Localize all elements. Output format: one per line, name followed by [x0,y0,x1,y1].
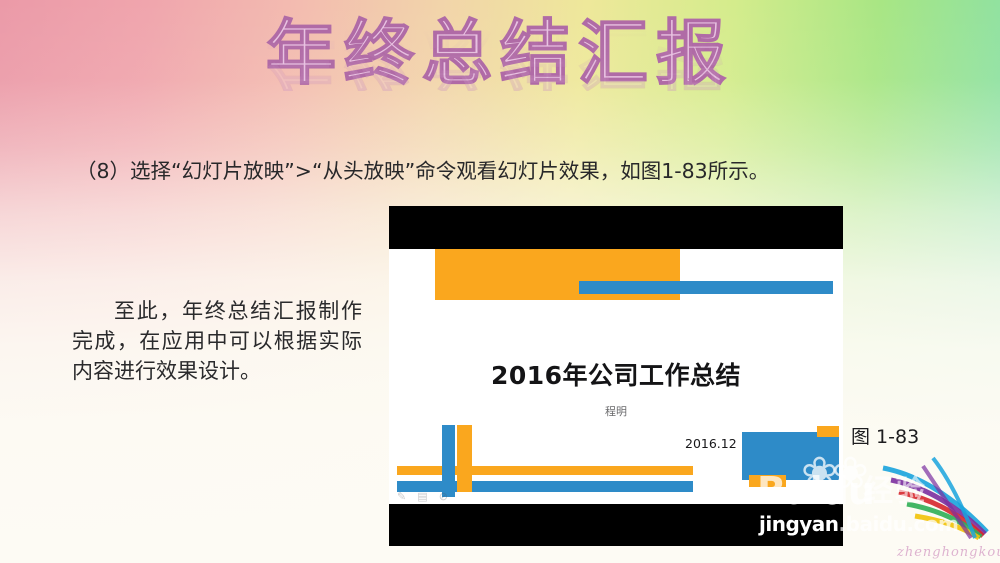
embedded-slide-screenshot: 2016年公司工作总结 程明 ✎ ▤ ⊘ 2016.12 [389,206,843,546]
slide-page: 年终总结汇报 年终总结汇报 （8）选择“幻灯片放映”>“从头放映”命令观看幻灯片… [0,0,1000,563]
slide-bottom-black-bar [389,504,843,546]
slide-blue-card [742,432,839,480]
slide-date-label: 2016.12 [685,436,737,451]
instruction-text: （8）选择“幻灯片放映”>“从头放映”命令观看幻灯片效果，如图1-83所示。 [76,158,936,186]
slide-title: 2016年公司工作总结 [389,356,843,392]
slide-card-tab-bottom [749,475,786,487]
slide-tool-glyph-strip: ✎ ▤ ⊘ [397,490,452,503]
slide-ornament-vertical-blue [442,425,455,497]
figure-caption: 图 1-83 [851,422,919,449]
slide-top-black-bar [389,206,843,249]
slide-blue-rule [579,281,833,294]
slide-ornament-vertical-orange [457,425,472,492]
slide-subtitle-author: 程明 [389,403,843,419]
slide-card-tab-top [817,426,839,437]
closing-paragraph-text: 至此，年终总结汇报制作完成，在应用中可以根据实际内容进行效果设计。 [72,297,362,386]
